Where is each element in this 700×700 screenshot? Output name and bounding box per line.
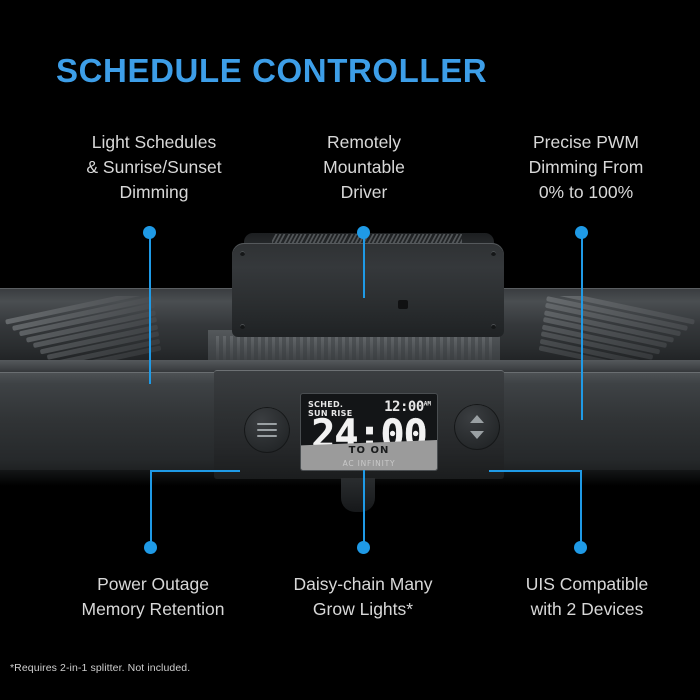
page-title: SCHEDULE CONTROLLER	[56, 52, 487, 90]
screw-icon	[491, 251, 496, 256]
menu-button[interactable]	[244, 407, 290, 453]
chevron-up-icon	[470, 415, 484, 423]
leader-dot	[574, 541, 587, 554]
lcd-brand-label: AC INFINITY	[301, 459, 437, 468]
leader-line	[149, 236, 151, 384]
driver-box	[232, 243, 504, 337]
heatsink-fins-right	[470, 296, 700, 366]
leader-line	[363, 470, 365, 545]
up-down-button[interactable]	[454, 404, 500, 450]
chevron-down-icon	[470, 431, 484, 439]
leader-dot	[357, 541, 370, 554]
leader-line	[150, 470, 240, 472]
lcd-state-label: TO ON	[301, 445, 437, 456]
lcd-display: SCHED. SUN RISE 12:00AM 24:00 TO ON AC I…	[301, 394, 437, 470]
screw-icon	[240, 324, 245, 329]
leader-line	[150, 470, 152, 545]
callout-uis-compatible: UIS Compatible with 2 Devices	[478, 572, 696, 622]
footnote: *Requires 2-in-1 splitter. Not included.	[10, 662, 190, 674]
cable-stub	[341, 478, 375, 512]
product-feature-image: SCHED. SUN RISE 12:00AM 24:00 TO ON AC I…	[0, 0, 700, 700]
driver-port	[398, 300, 408, 309]
leader-line	[580, 470, 582, 545]
hamburger-icon	[257, 423, 277, 425]
callout-daisy-chain: Daisy-chain Many Grow Lights*	[268, 572, 458, 622]
leader-line	[581, 236, 583, 420]
screw-icon	[240, 251, 245, 256]
callout-power-outage-memory: Power Outage Memory Retention	[38, 572, 268, 622]
callout-remotely-mountable-driver: Remotely Mountable Driver	[268, 130, 460, 205]
leader-line	[363, 236, 365, 298]
callout-light-schedules: Light Schedules & Sunrise/Sunset Dimming	[26, 130, 282, 205]
callout-precise-pwm-dimming: Precise PWM Dimming From 0% to 100%	[474, 130, 698, 205]
heatsink-fins-left	[0, 296, 230, 366]
hamburger-icon	[257, 429, 277, 431]
screw-icon	[491, 324, 496, 329]
leader-line	[489, 470, 582, 472]
lcd-clock-meridiem: AM	[424, 400, 431, 407]
leader-dot	[144, 541, 157, 554]
hamburger-icon	[257, 435, 277, 437]
